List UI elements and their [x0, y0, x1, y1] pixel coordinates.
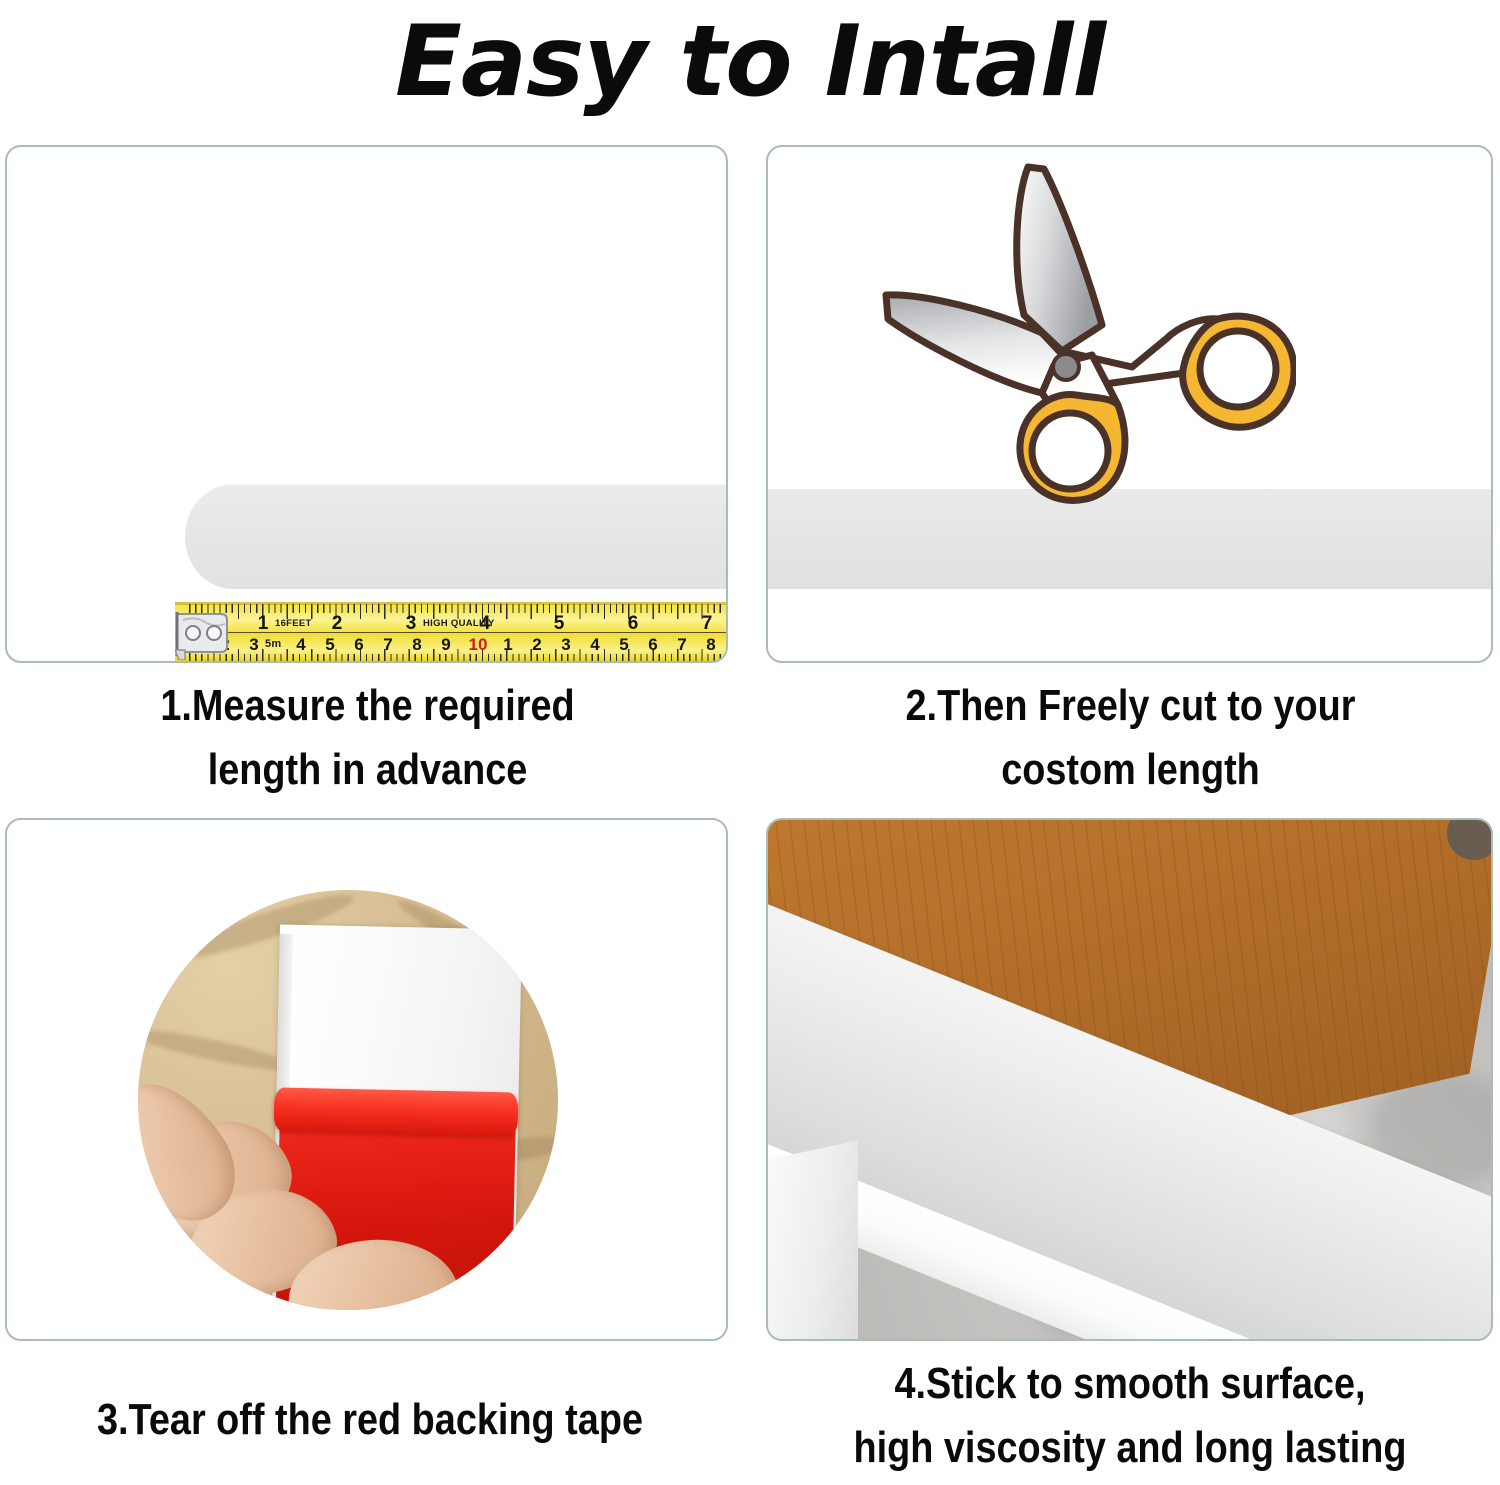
stone-texture	[138, 1023, 298, 1078]
tape-cm-14: 4	[590, 635, 599, 655]
tape-cm-18: 8	[706, 635, 715, 655]
caption-line: costom length	[819, 738, 1443, 802]
tape-cm-6: 6	[354, 635, 363, 655]
tape-inch-2: 2	[332, 613, 343, 635]
tape-marking-5m: 5m	[265, 638, 282, 650]
scissors-icon	[866, 155, 1296, 515]
step-4-image-panel	[766, 818, 1493, 1341]
peel-backing-photo	[7, 820, 726, 1339]
caption-line: 4.Stick to smooth surface,	[812, 1352, 1448, 1416]
tape-marking-16feet: 16FEET	[275, 618, 312, 629]
tape-inch-1: 1	[258, 613, 269, 635]
installed-baseboard-photo	[768, 820, 1491, 1339]
tape-inch-6: 6	[628, 613, 639, 635]
step-3-caption: 3.Tear off the red backing tape	[52, 1388, 688, 1452]
tape-hook-icon	[175, 606, 233, 660]
tape-inch-4: 4	[480, 613, 491, 635]
tape-cm-11: 1	[503, 635, 512, 655]
tape-cm-7: 7	[383, 635, 392, 655]
step-3-image-panel	[5, 818, 728, 1341]
caption-line: 2.Then Freely cut to your	[819, 674, 1443, 738]
step-4-caption: 4.Stick to smooth surface, high viscosit…	[812, 1352, 1448, 1480]
page-title: Easy to Intall	[0, 8, 1500, 118]
caption-line: length in advance	[60, 738, 675, 802]
baseboard-left-return	[768, 1140, 858, 1339]
step-1-caption: 1.Measure the required length in advance	[60, 674, 675, 802]
scissors-pivot-icon	[1053, 354, 1079, 380]
tape-cm-4: 4	[296, 635, 305, 655]
tape-cm-9: 9	[441, 635, 450, 655]
tape-cm-13: 3	[561, 635, 570, 655]
caption-line: high viscosity and long lasting	[812, 1416, 1448, 1480]
tape-cm-16: 6	[648, 635, 657, 655]
tape-cm-17: 7	[677, 635, 686, 655]
tape-measure-illustration: 1 16FEET 2 3 HIGH QUALITY 4 5 6 7 2 3 5m…	[175, 602, 728, 663]
tape-inch-3: 3	[406, 613, 417, 635]
tape-cm-15: 5	[619, 635, 628, 655]
circular-photo-crop	[138, 890, 558, 1310]
tape-cm-labels: 2 3 5m 4 5 6 7 8 9 10 1 2 3 4 5 6 7 8	[175, 635, 728, 655]
caption-line: 1.Measure the required	[60, 674, 675, 738]
tape-cm-3: 3	[249, 635, 258, 655]
tape-cm-5: 5	[325, 635, 334, 655]
caption-line: 3.Tear off the red backing tape	[52, 1388, 688, 1452]
step-2-caption: 2.Then Freely cut to your costom length	[819, 674, 1443, 802]
tape-inch-7: 7	[702, 613, 713, 635]
tape-inch-5: 5	[554, 613, 565, 635]
trim-strip-illustration	[185, 484, 728, 589]
tape-inch-labels: 1 16FEET 2 3 HIGH QUALITY 4 5 6 7	[175, 613, 728, 633]
tape-cm-12: 2	[532, 635, 541, 655]
tape-cm-10-red: 10	[469, 635, 488, 655]
step-1-image-panel: 1 16FEET 2 3 HIGH QUALITY 4 5 6 7 2 3 5m…	[5, 145, 728, 663]
tape-edge-bottom	[175, 661, 728, 663]
step-2-image-panel	[766, 145, 1493, 663]
red-backing-tape-peel-edge	[274, 1087, 519, 1136]
tape-cm-8: 8	[412, 635, 421, 655]
